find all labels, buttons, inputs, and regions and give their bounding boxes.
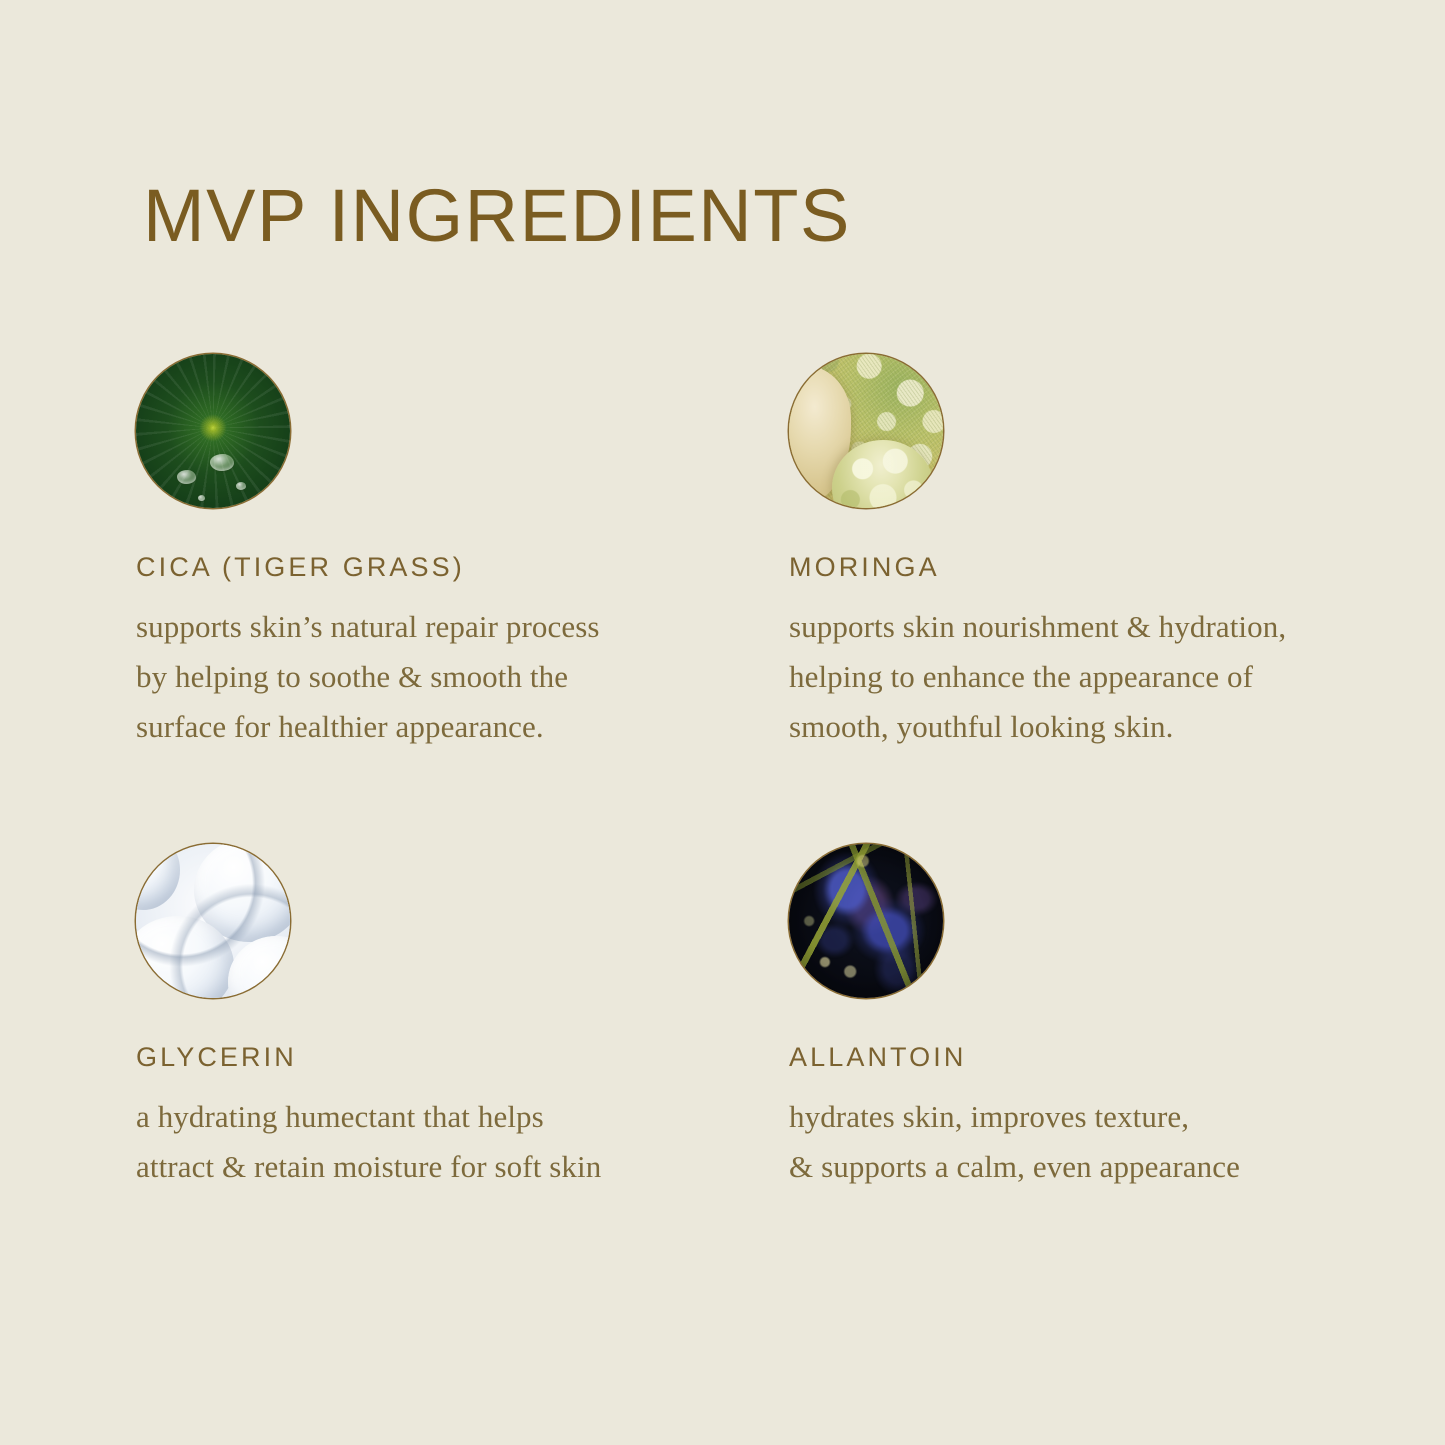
description-line: attract & retain moisture for soft skin [136,1142,766,1192]
ingredient-description-moringa: supports skin nourishment & hydration, h… [789,581,1419,753]
ingredients-infographic: MVP INGREDIENTS CICA (TIGER GRASS) suppo… [0,0,1445,1445]
ingredient-description-allantoin: hydrates skin, improves texture, & suppo… [789,1071,1419,1192]
description-line: supports skin’s natural repair process [136,602,766,652]
allantoin-comfrey-flowers-photo [789,844,943,998]
ingredient-description-cica: supports skin’s natural repair process b… [136,581,766,753]
ingredient-name-cica: CICA (TIGER GRASS) [136,508,756,581]
ingredient-grid: CICA (TIGER GRASS) supports skin’s natur… [0,0,1445,1445]
ingredient-name-glycerin: GLYCERIN [136,998,756,1071]
moringa-pods-photo [789,354,943,508]
description-line: helping to enhance the appearance of [789,652,1419,702]
ingredient-card-cica: CICA (TIGER GRASS) supports skin’s natur… [136,354,756,753]
ingredient-name-moringa: MORINGA [789,508,1409,581]
description-line: supports skin nourishment & hydration, [789,602,1419,652]
description-line: by helping to soothe & smooth the [136,652,766,702]
ingredient-description-glycerin: a hydrating humectant that helps attract… [136,1071,766,1192]
description-line: & supports a calm, even appearance [789,1142,1419,1192]
cica-tiger-grass-leaf-photo [136,354,290,508]
ingredient-card-glycerin: GLYCERIN a hydrating humectant that help… [136,844,756,1192]
description-line: smooth, youthful looking skin. [789,702,1419,752]
description-line: hydrates skin, improves texture, [789,1092,1419,1142]
ingredient-name-allantoin: ALLANTOIN [789,998,1409,1071]
ingredient-card-allantoin: ALLANTOIN hydrates skin, improves textur… [789,844,1409,1192]
glycerin-bubbles-photo [136,844,290,998]
description-line: surface for healthier appearance. [136,702,766,752]
description-line: a hydrating humectant that helps [136,1092,766,1142]
ingredient-card-moringa: MORINGA supports skin nourishment & hydr… [789,354,1409,753]
